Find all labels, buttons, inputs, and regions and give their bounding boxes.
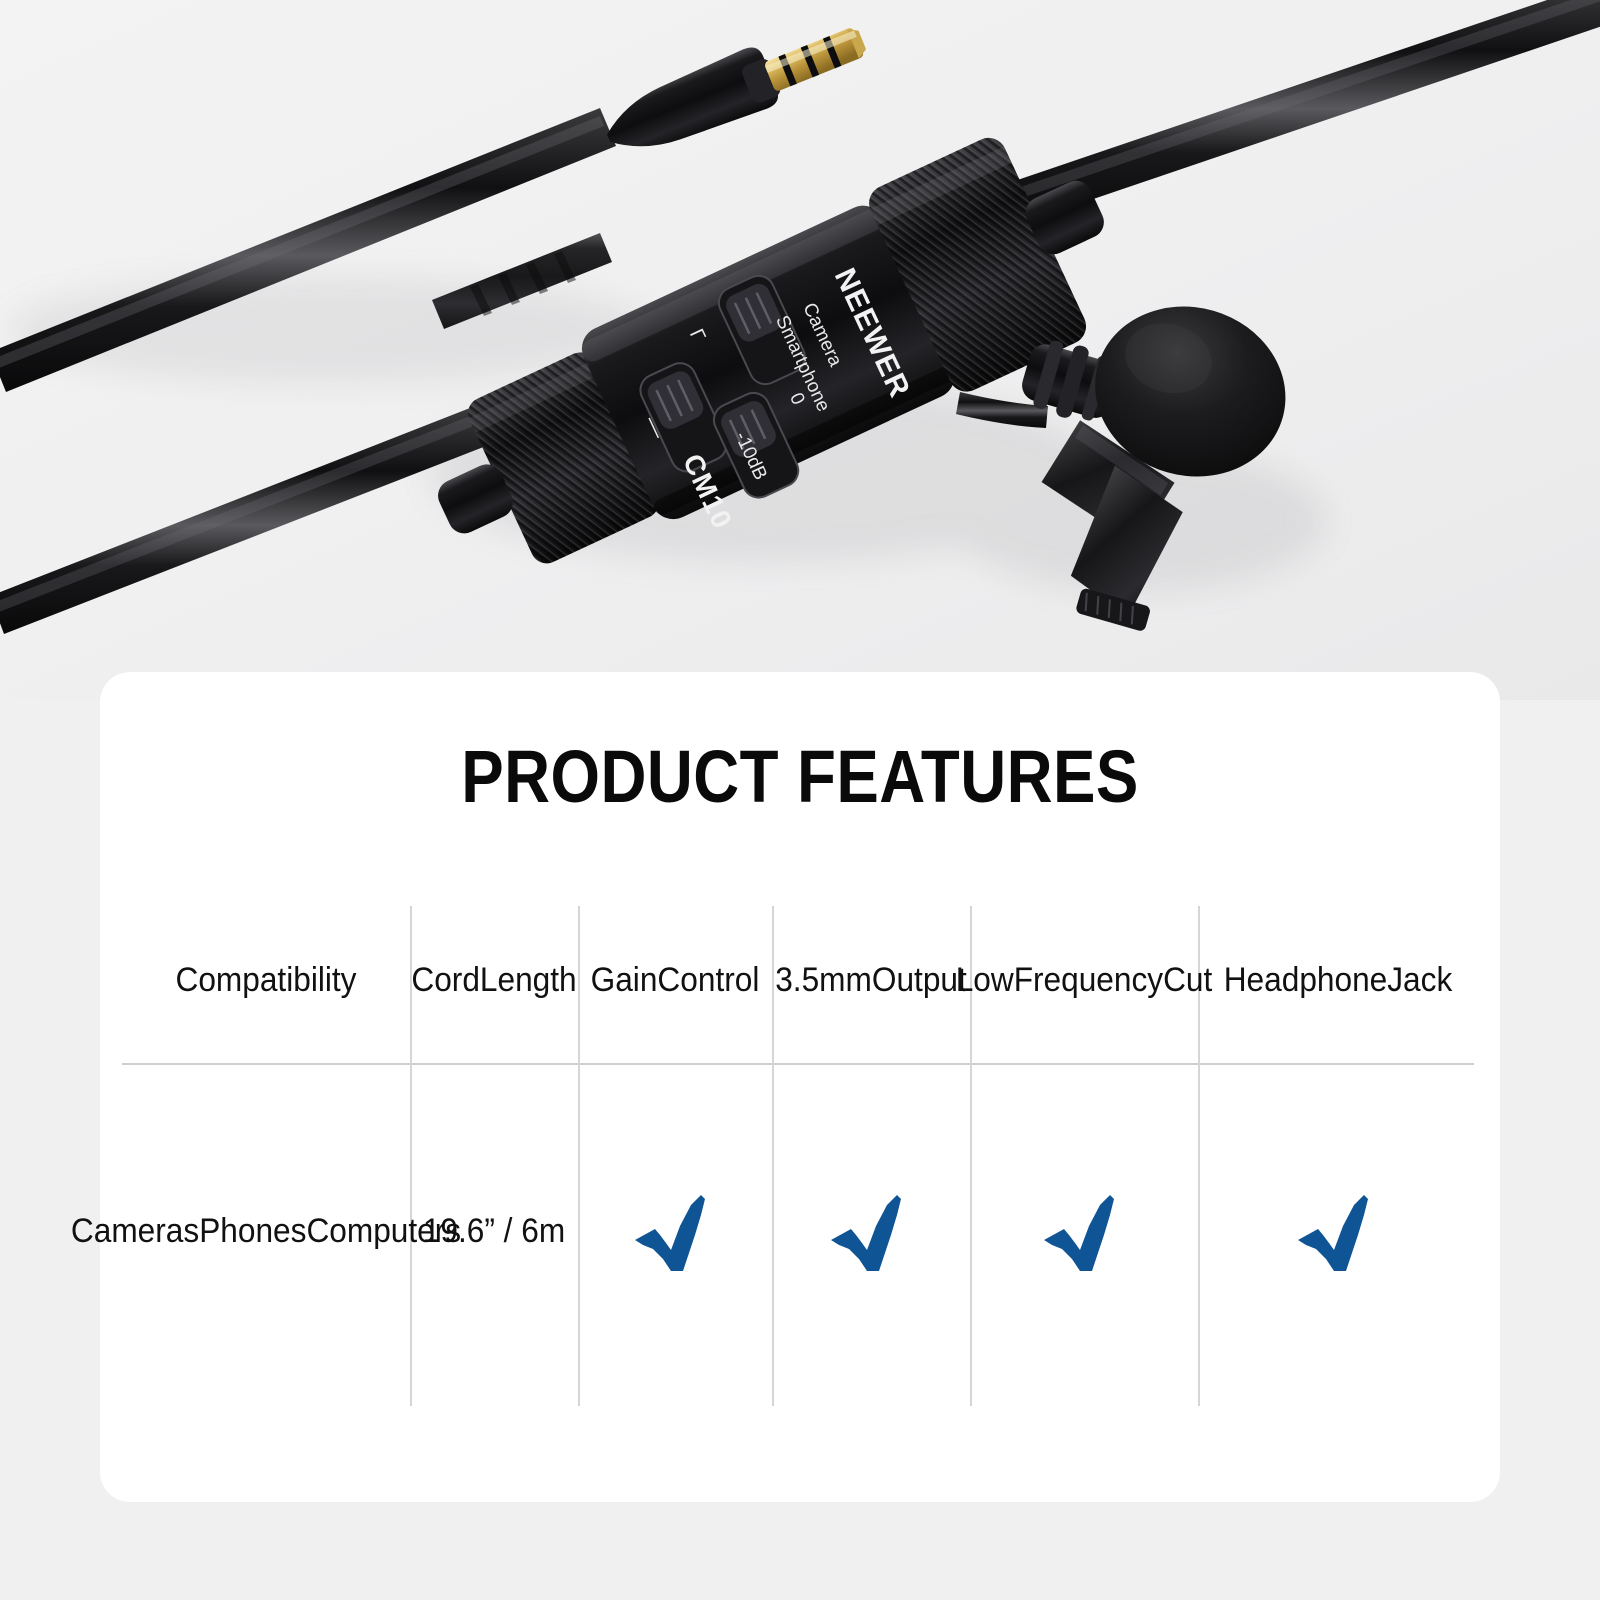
feature-check-cell: [585, 1063, 765, 1418]
check-icon: [829, 1193, 913, 1271]
cell-line: Phones: [199, 1211, 306, 1252]
check-icon: [1296, 1193, 1380, 1271]
table-column: GainControl: [578, 898, 772, 1418]
column-header: HeadphoneJack: [1208, 898, 1468, 1063]
product-photo: NEEWER Camera Smartphone CM10 -10dB 0 Γ …: [0, 0, 1600, 700]
check-icon: [1042, 1193, 1126, 1271]
feature-text-cell: CamerasPhonesComputers: [132, 1063, 400, 1418]
header-line: 3.5mm: [775, 961, 872, 1000]
check-icon: [633, 1193, 717, 1271]
header-line: Headphone: [1224, 961, 1388, 1000]
table-column: HeadphoneJack: [1198, 898, 1478, 1418]
header-line: Compatibility: [175, 961, 356, 1000]
header-line: Cord: [411, 961, 480, 1000]
feature-check-cell: [978, 1063, 1190, 1418]
column-header: GainControl: [585, 898, 765, 1063]
header-line: Gain: [591, 961, 658, 1000]
column-header: Compatibility: [132, 898, 400, 1063]
table-column: LowFrequencyCut: [970, 898, 1198, 1418]
feature-check-cell: [779, 1063, 963, 1418]
page-root: NEEWER Camera Smartphone CM10 -10dB 0 Γ …: [0, 0, 1600, 1600]
header-line: Jack: [1387, 961, 1452, 1000]
header-line: Low: [956, 961, 1014, 1000]
page-title: PRODUCT FEATURES: [198, 734, 1402, 819]
column-header: 3.5mmOutput: [779, 898, 963, 1063]
features-card: PRODUCT FEATURES CompatibilityCamerasPho…: [100, 672, 1500, 1502]
cell-line: Cameras: [71, 1211, 199, 1252]
table-column: 3.5mmOutput: [772, 898, 970, 1418]
cell-line: 19.6” / 6m: [423, 1211, 565, 1252]
header-line: Frequency: [1014, 961, 1163, 1000]
header-line: Control: [657, 961, 759, 1000]
feature-check-cell: [1208, 1063, 1468, 1418]
features-table: CompatibilityCamerasPhonesComputersCordL…: [122, 898, 1478, 1418]
table-columns: CompatibilityCamerasPhonesComputersCordL…: [122, 898, 1478, 1418]
table-column: CordLength19.6” / 6m: [410, 898, 578, 1418]
header-line: Output: [872, 961, 967, 1000]
column-header: LowFrequencyCut: [978, 898, 1190, 1063]
column-header: CordLength: [416, 898, 572, 1063]
feature-text-cell: 19.6” / 6m: [416, 1063, 572, 1418]
header-line: Length: [480, 961, 577, 1000]
table-column: CompatibilityCamerasPhonesComputers: [122, 898, 410, 1418]
